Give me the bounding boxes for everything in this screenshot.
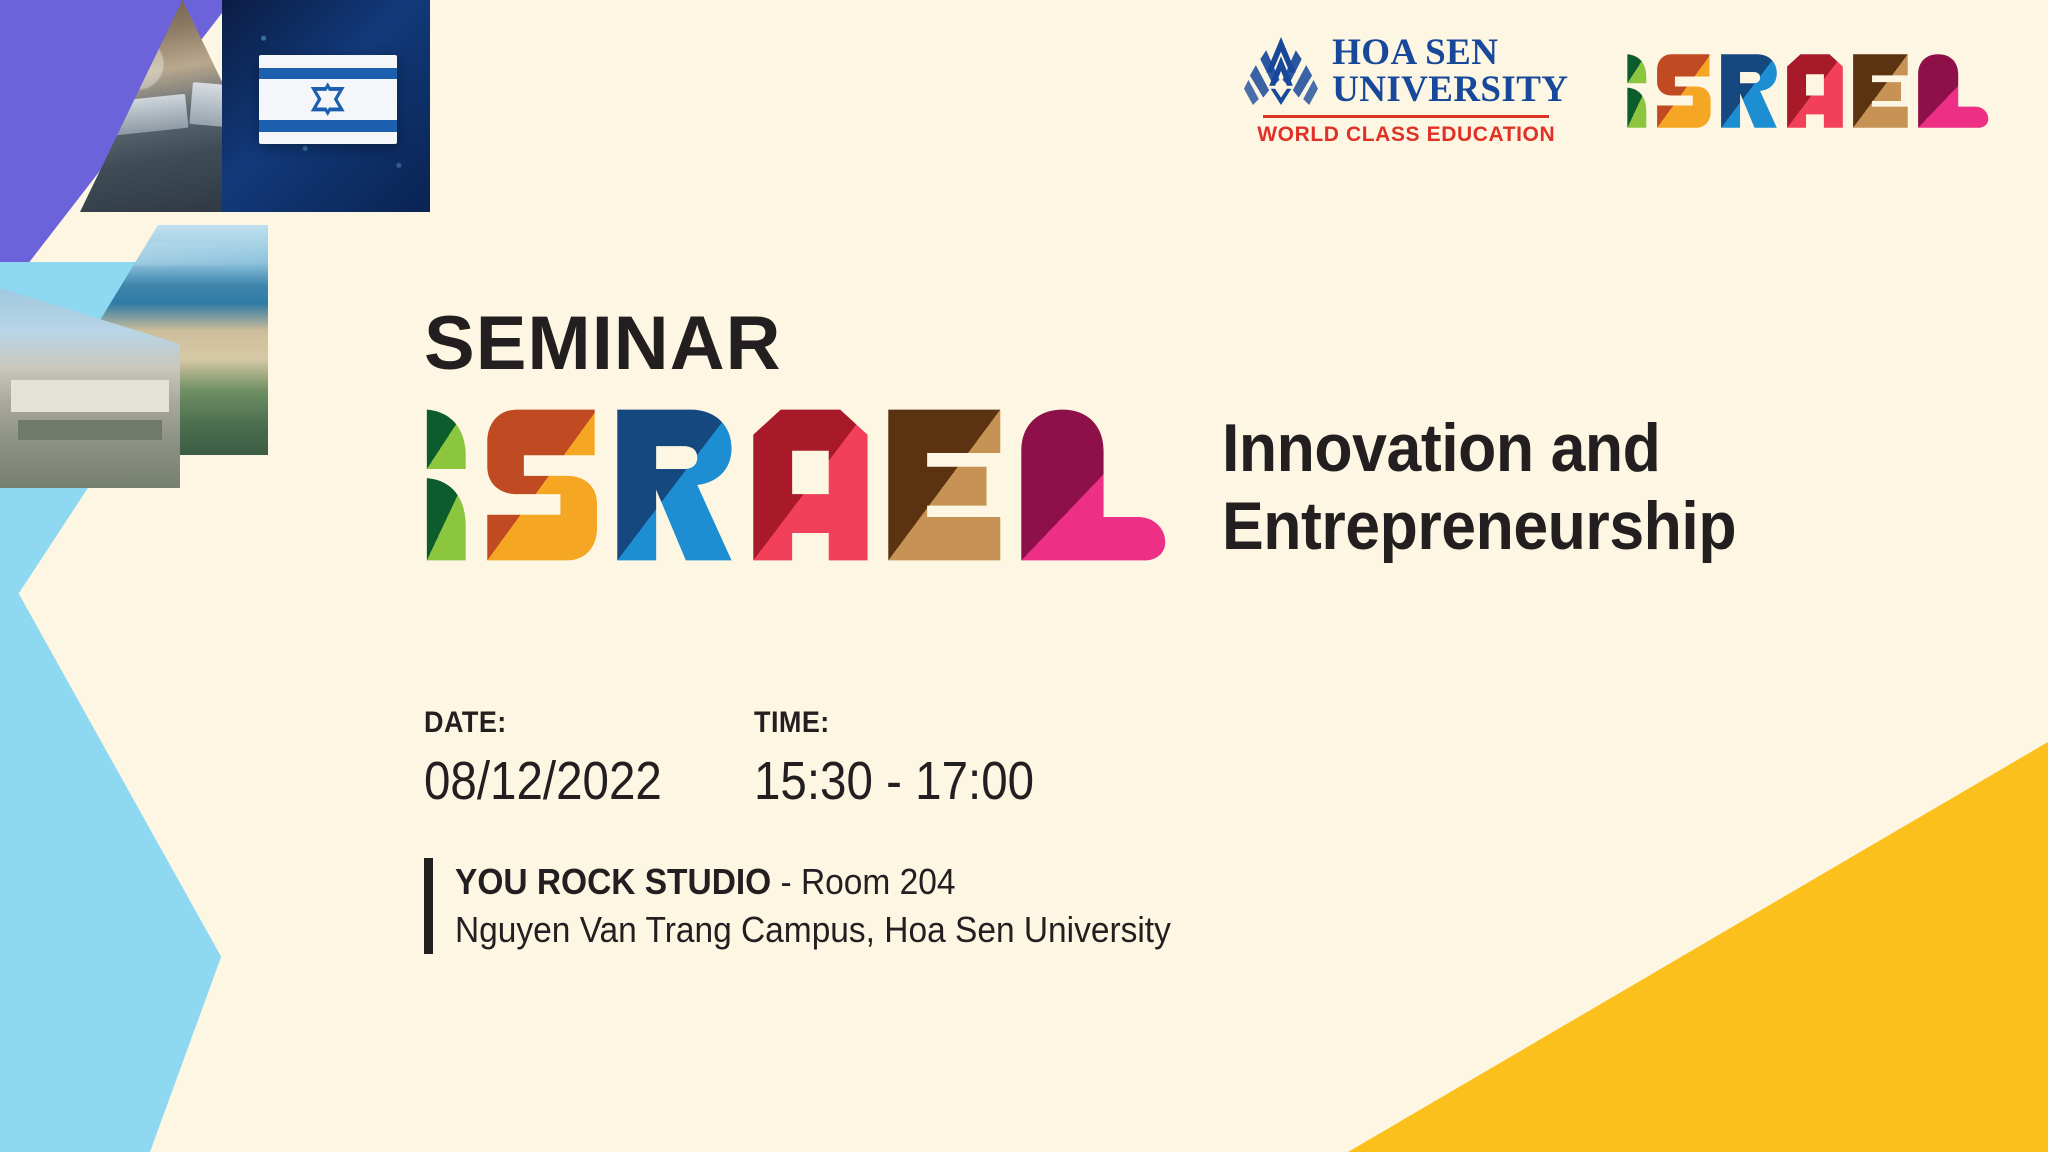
israel-letter-i xyxy=(420,405,473,565)
venue-name-line: YOU ROCK STUDIO - Room 204 xyxy=(455,858,1171,906)
headline: Innovation and Entrepreneurship xyxy=(1222,410,1921,565)
event-poster: HOA SEN UNIVERSITY WORLD CLASS EDUCATION xyxy=(0,0,2048,1152)
israel-letter-r xyxy=(615,405,738,565)
date-value: 08/12/2022 xyxy=(424,750,714,812)
date-block: DATE: 08/12/2022 xyxy=(424,706,754,812)
israel-letter-a xyxy=(751,405,874,565)
israeli-flag-icon xyxy=(259,55,396,144)
headline-line1: Innovation and xyxy=(1222,410,1921,488)
israel-letter-i xyxy=(1624,52,1650,130)
headline-line2: Entrepreneurship xyxy=(1222,488,1921,566)
time-block: TIME: 15:30 - 17:00 xyxy=(754,706,1072,812)
israel-brand-mark-small xyxy=(1624,52,1992,130)
university-name-line2: UNIVERSITY xyxy=(1332,71,1568,108)
logo-divider xyxy=(1263,115,1549,118)
israel-letter-r xyxy=(1720,52,1780,130)
university-name: HOA SEN UNIVERSITY xyxy=(1332,34,1568,108)
poster-header: HOA SEN UNIVERSITY WORLD CLASS EDUCATION xyxy=(1244,34,1992,147)
university-name-line1: HOA SEN xyxy=(1332,34,1568,71)
date-label: DATE: xyxy=(424,706,721,740)
yellow-corner-wedge xyxy=(1348,742,2048,1152)
israel-letter-s xyxy=(485,405,604,565)
venue-accent-bar xyxy=(424,858,433,954)
venue-room: - Room 204 xyxy=(771,861,955,902)
venue-block: YOU ROCK STUDIO - Room 204 Nguyen Van Tr… xyxy=(424,858,1225,954)
star-of-david-icon xyxy=(305,82,352,118)
time-value: 15:30 - 17:00 xyxy=(754,750,1034,812)
israel-letter-e xyxy=(886,405,1007,565)
hoa-sen-university-logo: HOA SEN UNIVERSITY WORLD CLASS EDUCATION xyxy=(1244,34,1568,147)
photo-israeli-flag xyxy=(222,0,430,212)
page-title: SEMINAR xyxy=(424,300,781,387)
israel-letter-l xyxy=(1019,405,1172,565)
venue-address: Nguyen Van Trang Campus, Hoa Sen Univers… xyxy=(455,906,1171,954)
israel-letter-a xyxy=(1786,52,1846,130)
israel-letter-s xyxy=(1656,52,1714,130)
israel-letter-l xyxy=(1917,52,1992,130)
event-details: DATE: 08/12/2022 TIME: 15:30 - 17:00 xyxy=(424,706,1072,812)
israel-brand-mark-large xyxy=(420,405,1173,565)
venue-name: YOU ROCK STUDIO xyxy=(455,861,771,902)
time-label: TIME: xyxy=(754,706,1040,740)
university-tagline: WORLD CLASS EDUCATION xyxy=(1257,123,1555,147)
lotus-mark-icon xyxy=(1244,34,1318,108)
israel-letter-e xyxy=(1852,52,1911,130)
